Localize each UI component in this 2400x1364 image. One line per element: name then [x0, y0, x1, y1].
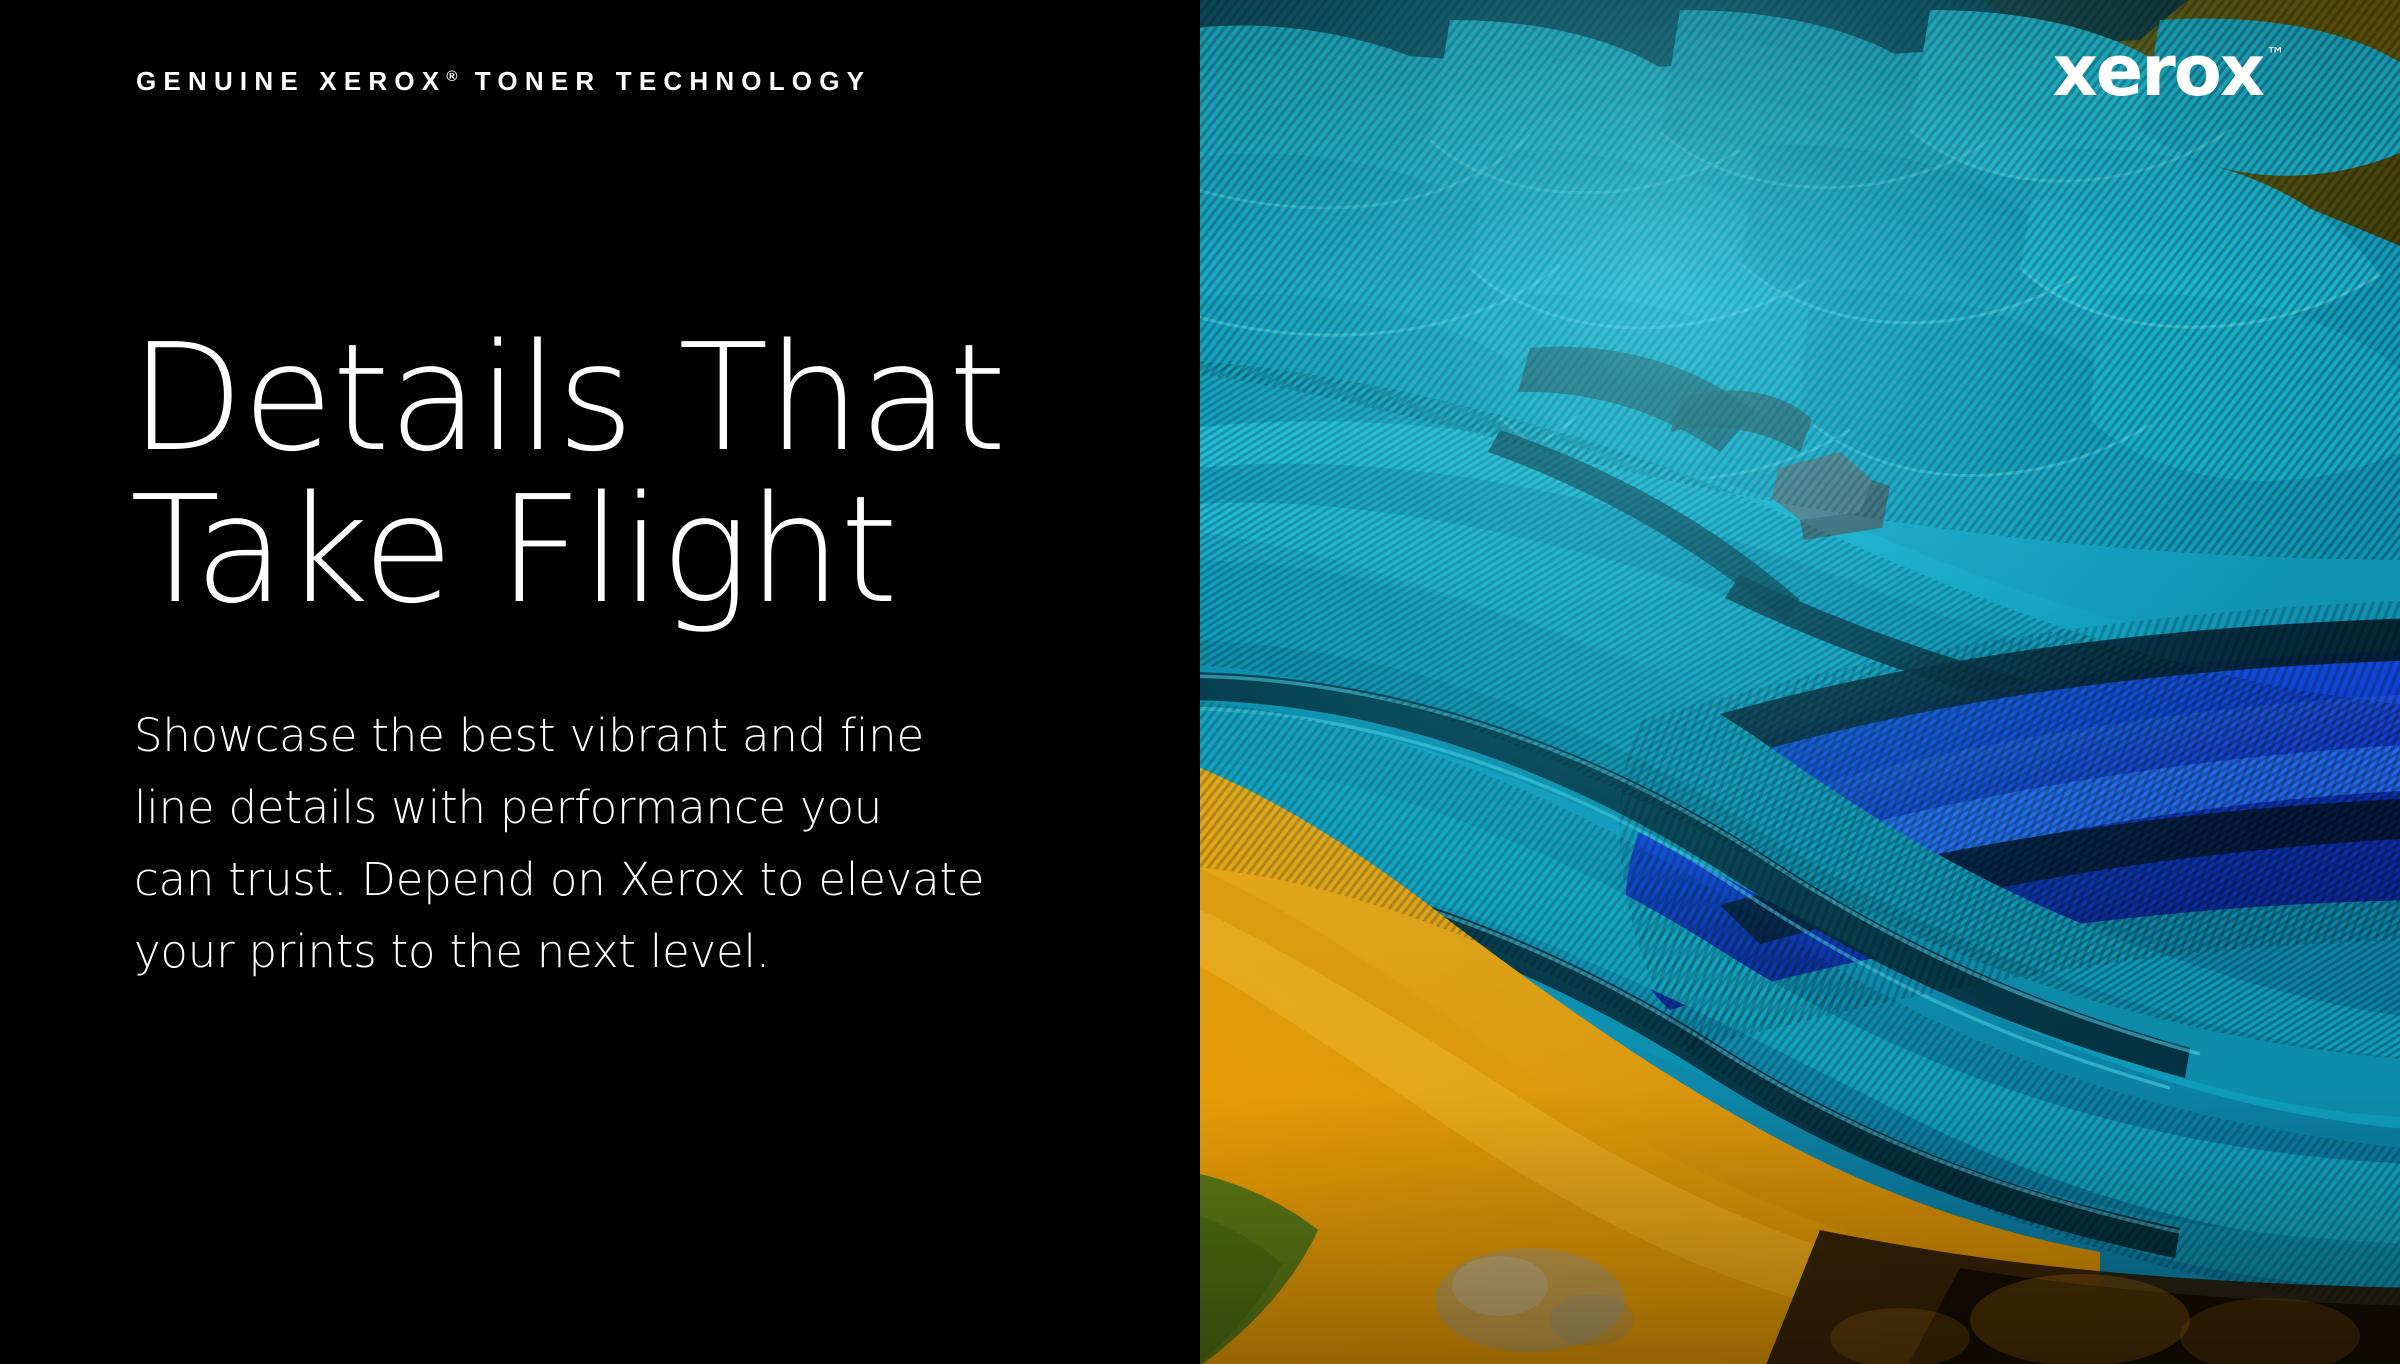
xerox-wordmark: xerox	[2053, 30, 2263, 112]
feather-photo: xerox™	[1200, 0, 2400, 1364]
marketing-banner: GENUINE XEROX® TONER TECHNOLOGY Details …	[0, 0, 2400, 1364]
text-panel: GENUINE XEROX® TONER TECHNOLOGY Details …	[0, 0, 1200, 1364]
eyebrow-prefix: GENUINE XEROX	[136, 66, 446, 96]
xerox-logo[interactable]: xerox™	[2053, 36, 2285, 106]
page-title: Details That Take Flight	[130, 322, 1005, 626]
macaw-feather-illustration	[1200, 0, 2400, 1364]
trademark-icon: ™	[2266, 44, 2285, 66]
eyebrow-label: GENUINE XEROX® TONER TECHNOLOGY	[136, 68, 871, 94]
body-paragraph: Showcase the best vibrant and fine line …	[134, 700, 984, 988]
registered-trademark-icon: ®	[446, 68, 460, 85]
eyebrow-suffix: TONER TECHNOLOGY	[460, 66, 871, 96]
